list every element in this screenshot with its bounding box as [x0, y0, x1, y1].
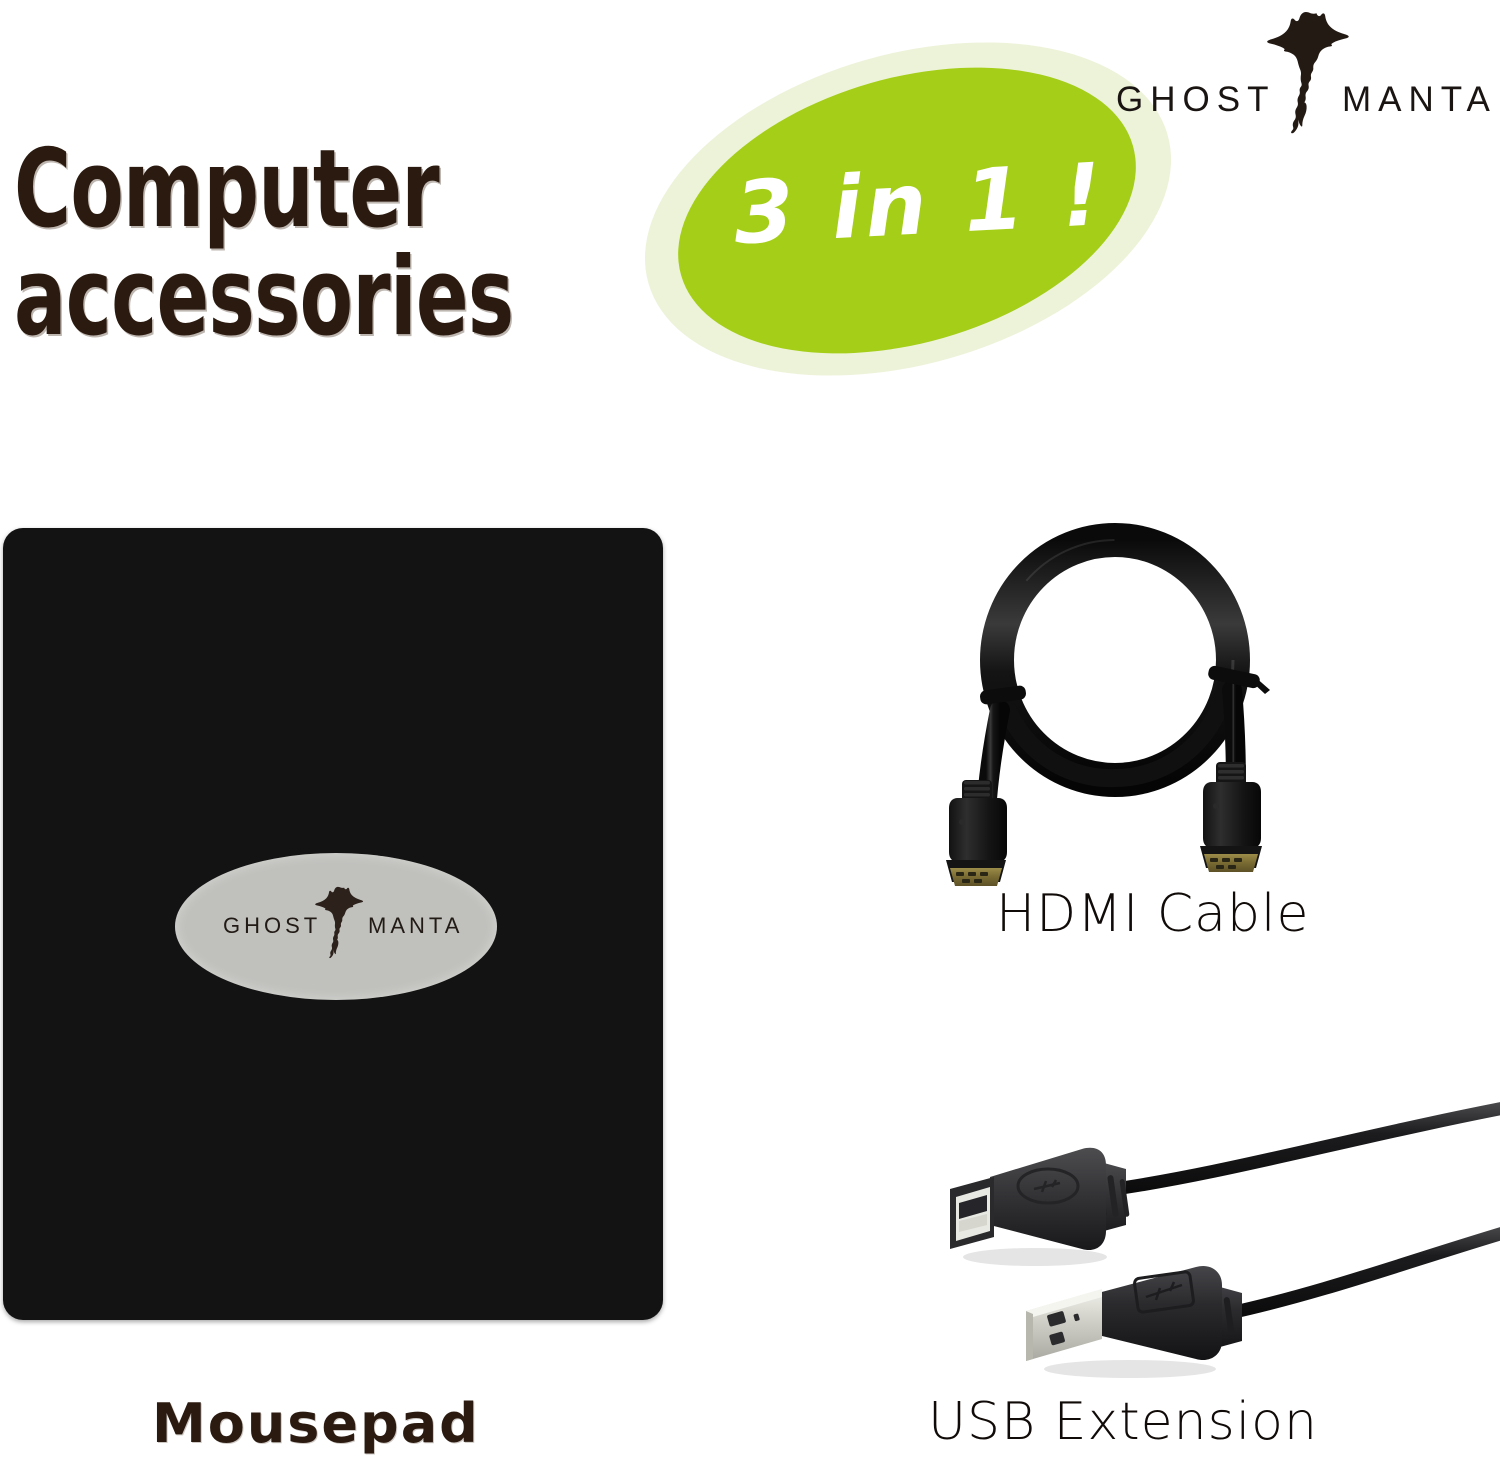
badge-label: 3 in 1 ! — [732, 145, 1108, 264]
brand-word-manta: MANTA — [1342, 80, 1497, 120]
mousepad-caption: Mousepad — [152, 1392, 480, 1455]
manta-ray-icon — [1260, 6, 1352, 141]
mousepad-product-image: GHOST MANTA — [3, 528, 663, 1320]
usb-extension-caption: USB Extension — [928, 1392, 1318, 1452]
mousepad-brand-word-manta: MANTA — [368, 913, 463, 939]
brand-word-ghost: GHOST — [1116, 80, 1275, 120]
headline-line-1: Computer — [14, 136, 532, 244]
page-title: Computer accessories — [14, 136, 532, 352]
brand-logo: GHOST MANTA — [1112, 6, 1492, 146]
mousepad-brand-word-ghost: GHOST — [223, 913, 321, 939]
three-in-one-badge: 3 in 1 ! — [630, 44, 1190, 374]
mousepad-logo-badge: GHOST MANTA — [175, 853, 497, 1000]
usb-extension-product-image — [930, 1085, 1500, 1380]
product-infographic: Computer accessories 3 in 1 ! GHOST MANT… — [0, 0, 1500, 1468]
hdmi-cable-caption: HDMI Cable — [996, 884, 1310, 944]
headline-line-2: accessories — [14, 244, 532, 352]
hdmi-cable-product-image — [940, 520, 1360, 870]
